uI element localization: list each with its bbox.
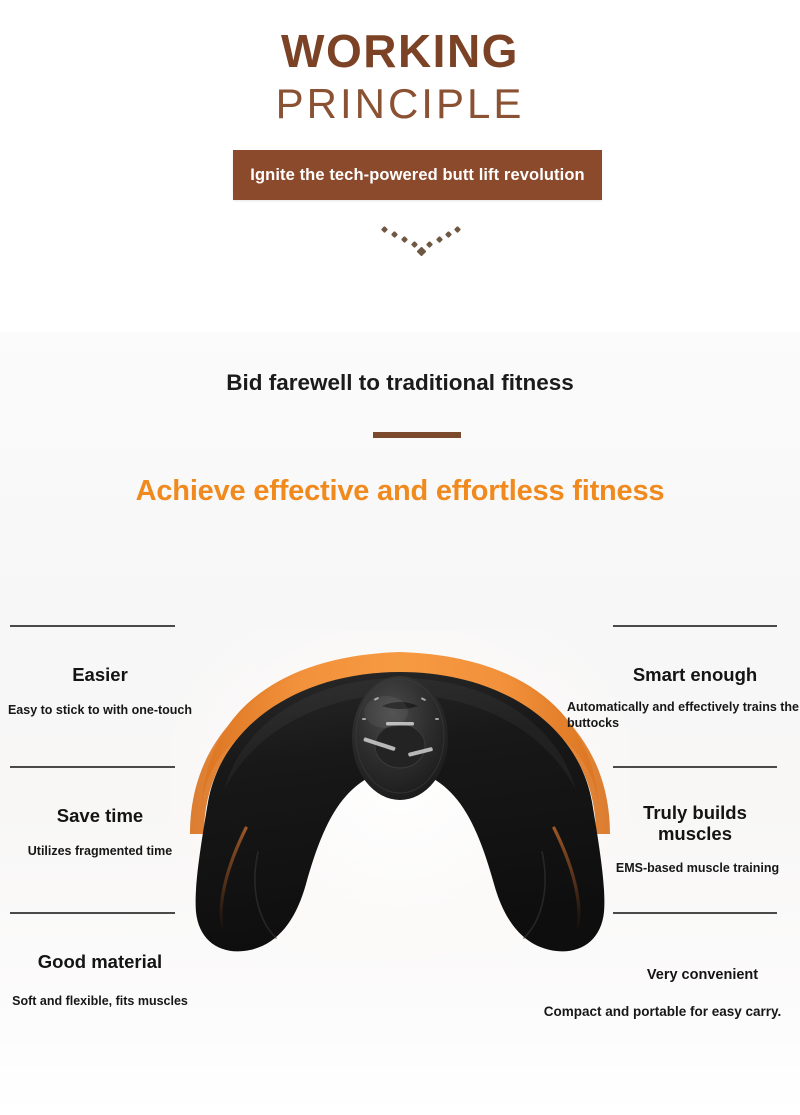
feature-caption: Easy to stick to with one-touch <box>0 703 200 719</box>
feature-rule <box>10 625 175 627</box>
ems-hip-trainer-illustration <box>150 620 650 980</box>
tagline-banner: Ignite the tech-powered butt lift revolu… <box>233 150 602 200</box>
product-image <box>150 620 650 980</box>
feature-caption: EMS-based muscle training <box>590 861 800 877</box>
feature-title: Truly builds muscles <box>620 803 770 844</box>
feature-caption: Utilizes fragmented time <box>0 844 200 860</box>
feature-title: Easier <box>0 665 200 686</box>
feature-item-truly-builds-muscles: Truly builds muscles EMS-based muscle tr… <box>600 766 800 881</box>
feature-rule <box>613 912 777 914</box>
content-section: Bid farewell to traditional fitness Achi… <box>0 332 800 1115</box>
section-subheading: Bid farewell to traditional fitness <box>0 372 800 395</box>
feature-item-easier: Easier Easy to stick to with one-touch <box>0 625 200 730</box>
feature-title: Good material <box>0 952 200 973</box>
tagline-text: Ignite the tech-powered butt lift revolu… <box>250 166 584 185</box>
header-section: WORKING PRINCIPLE Ignite the tech-powere… <box>0 0 800 332</box>
chevron-down-icon <box>380 225 460 259</box>
section-divider <box>373 432 461 438</box>
section-headline: Achieve effective and effortless fitness <box>0 477 800 506</box>
feature-caption: Automatically and effectively trains the… <box>567 700 800 731</box>
feature-caption: Compact and portable for easy carry. <box>530 1004 795 1021</box>
feature-caption: Soft and flexible, fits muscles <box>0 994 200 1010</box>
page-title-secondary: PRINCIPLE <box>0 83 800 125</box>
feature-rule <box>10 912 175 914</box>
feature-item-save-time: Save time Utilizes fragmented time <box>0 766 200 871</box>
feature-title: Very convenient <box>625 967 780 983</box>
feature-item-good-material: Good material Soft and flexible, fits mu… <box>0 912 200 1017</box>
feature-rule <box>613 766 777 768</box>
feature-rule <box>613 625 777 627</box>
feature-title: Smart enough <box>600 665 790 686</box>
feature-title: Save time <box>0 806 200 827</box>
page-title-primary: WORKING <box>0 28 800 74</box>
feature-rule <box>10 766 175 768</box>
feature-item-very-convenient: Very convenient Compact and portable for… <box>600 912 800 1027</box>
feature-item-smart-enough: Smart enough Automatically and effective… <box>600 625 800 735</box>
